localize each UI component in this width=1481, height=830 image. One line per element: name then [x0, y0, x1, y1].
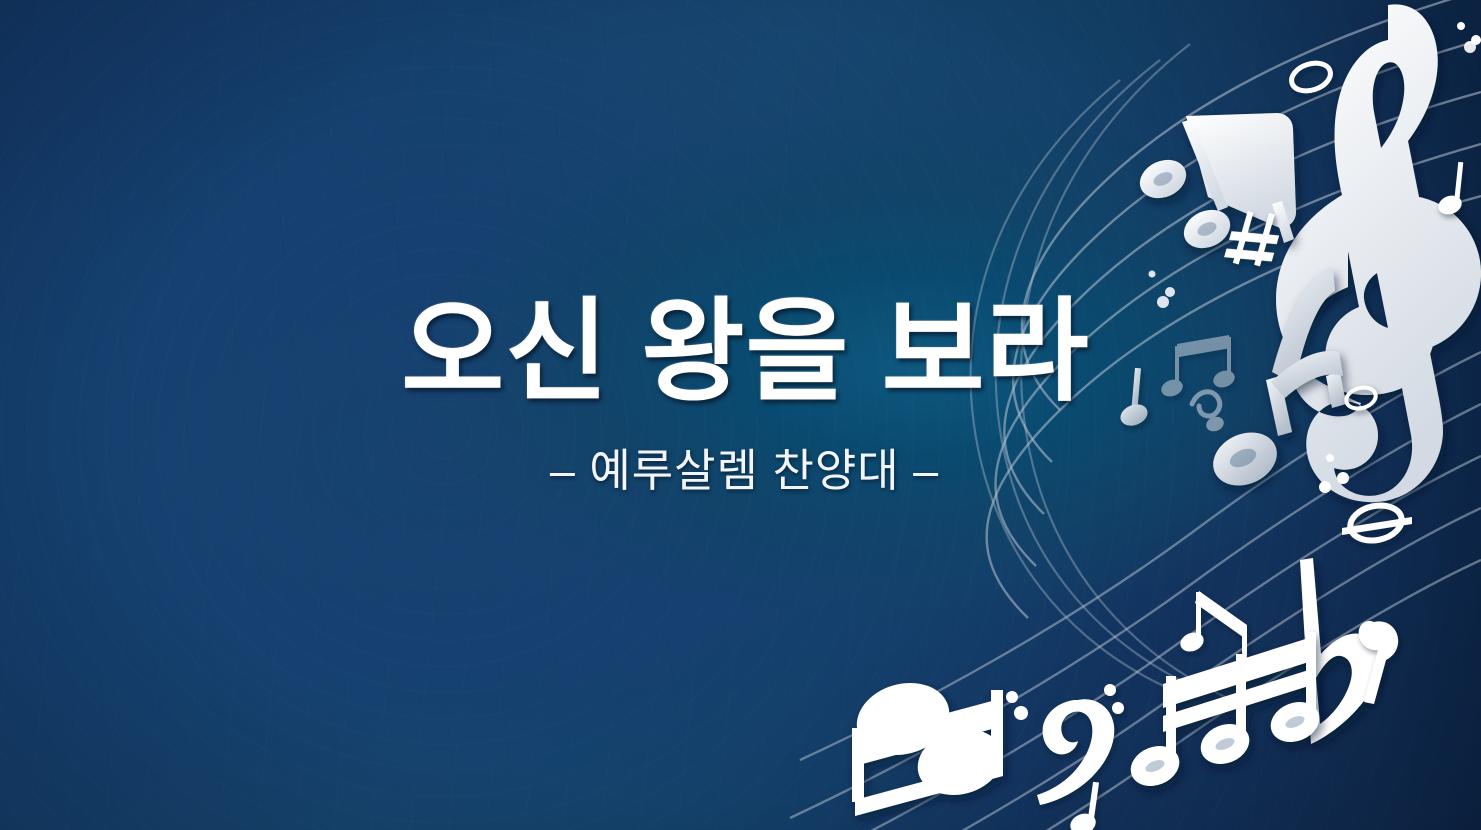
quarter-note-icon-topright [1436, 162, 1465, 218]
whole-note-icon-mid [1344, 384, 1378, 411]
treble-clef-icon [1276, 4, 1481, 502]
accent-dots-mid [1319, 454, 1349, 493]
whole-note-icon-right [1342, 501, 1412, 545]
beamed-eighth-notes-icon [1134, 113, 1296, 255]
subtitle: – 예루살렘 찬양대 – [0, 444, 1481, 498]
quarter-note-icon-mid [1117, 368, 1150, 430]
music-decoration-artwork [0, 0, 1481, 830]
background-rings-texture [0, 0, 1481, 830]
eighth-rest-icon [1359, 621, 1398, 704]
flat-sign-icon [1300, 558, 1380, 744]
staff-swirl-arcs [971, 44, 1236, 702]
beamed-eighth-notes-icon-bottom [848, 672, 1010, 816]
staff-lines-lower [766, 352, 1481, 830]
accent-dots-midleft [1149, 271, 1176, 309]
accent-dots-upper [1457, 22, 1481, 53]
background-right-shade [0, 0, 1481, 830]
beamed-sixteenth-notes-icon [1125, 632, 1326, 793]
bass-clef-icon [1037, 684, 1124, 805]
sharp-sign-icon [1223, 204, 1284, 273]
beamed-eighth-notes-icon-mid [1159, 335, 1237, 399]
whole-note-icon-top [1288, 58, 1334, 95]
quarter-note-icon-bottom [1067, 782, 1099, 830]
beamed-eighth-notes-icon-small [1178, 591, 1253, 684]
title-slide: 오신 왕을 보라 – 예루살렘 찬양대 – [0, 0, 1481, 830]
background-streaks-texture [0, 0, 1481, 830]
title-text-block: 오신 왕을 보라 – 예루살렘 찬양대 – [0, 286, 1481, 498]
background-vignette [0, 0, 1481, 830]
staff-lines-upper [987, 0, 1481, 618]
note-squiggle-icon [1192, 392, 1226, 434]
accent-dots-bottom [988, 691, 1028, 720]
page-title: 오신 왕을 보라 [0, 286, 1481, 418]
background-gradient [0, 0, 1481, 830]
beamed-eighth-notes-icon-large [1205, 269, 1346, 495]
